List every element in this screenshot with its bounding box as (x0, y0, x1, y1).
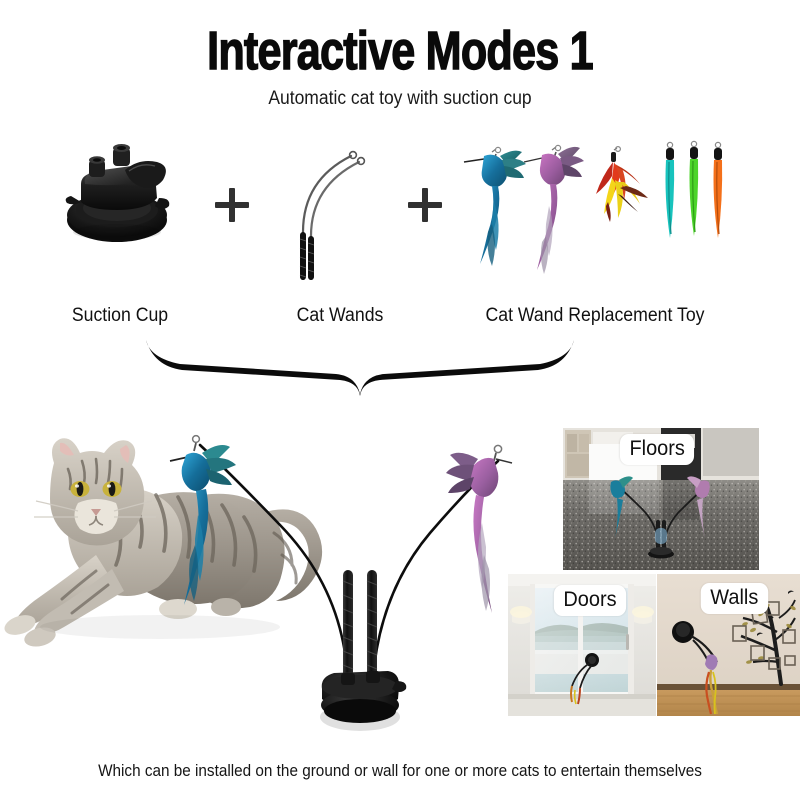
badge-walls: Walls (701, 583, 768, 614)
brace-arrow-icon (140, 336, 580, 396)
cat-illustration (2, 438, 322, 649)
suction-cup-icon (55, 140, 185, 250)
plus-icon-2 (408, 188, 442, 222)
cat-wand-icon (285, 140, 395, 280)
part-label-suction-cup: Suction Cup (36, 305, 203, 327)
page-subtitle: Automatic cat toy with suction cup (32, 87, 768, 111)
main-scene (0, 405, 560, 745)
plus-icon-1 (215, 188, 249, 222)
badge-floors: Floors (620, 434, 694, 465)
footer-caption: Which can be installed on the ground or … (40, 760, 760, 782)
feather-toy-icon (450, 138, 740, 288)
part-label-cat-wands: Cat Wands (261, 305, 419, 327)
part-label-replacement-toy: Cat Wand Replacement Toy (451, 305, 739, 327)
badge-doors: Doors (554, 585, 626, 616)
infographic-page: Interactive Modes 1 Automatic cat toy wi… (0, 0, 800, 800)
page-title: Interactive Modes 1 (80, 22, 720, 80)
